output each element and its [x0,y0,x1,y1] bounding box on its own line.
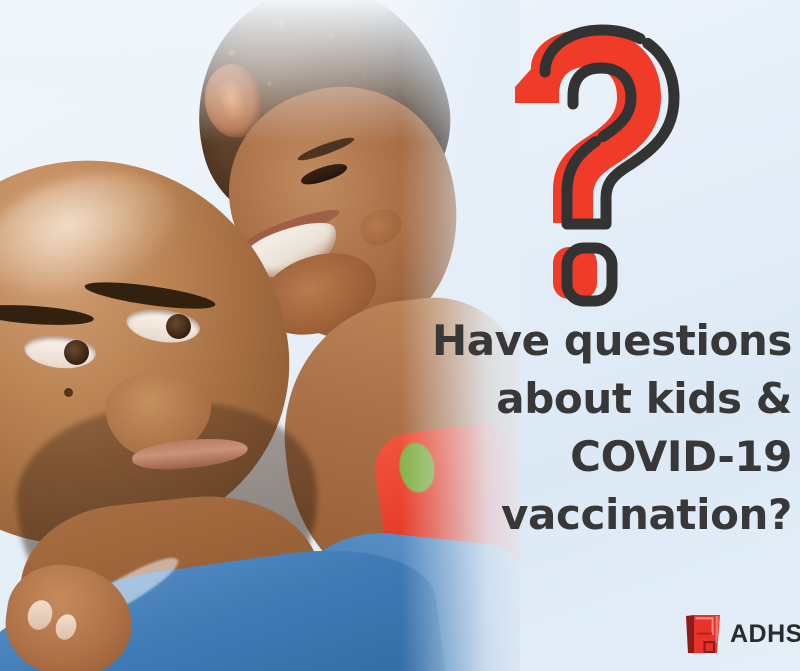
man-iris-right [166,314,191,339]
adhs-logo-text: ADHS [730,622,800,647]
question-mark-icon [498,18,698,318]
poster-canvas: Have questions about kids & COVID-19 vac… [0,0,800,671]
headline-line-2: about kids & [400,370,792,428]
page-title: Have questions about kids & COVID-19 vac… [400,312,792,544]
headline-line-3: COVID-19 [400,428,792,486]
adhs-logo-mark [684,613,722,655]
man-iris-left [64,340,89,365]
headline-line-4: vaccination? [400,486,792,544]
adhs-logo: ADHS [684,613,800,655]
headline-line-1: Have questions [400,312,792,370]
man-mole [64,388,73,397]
